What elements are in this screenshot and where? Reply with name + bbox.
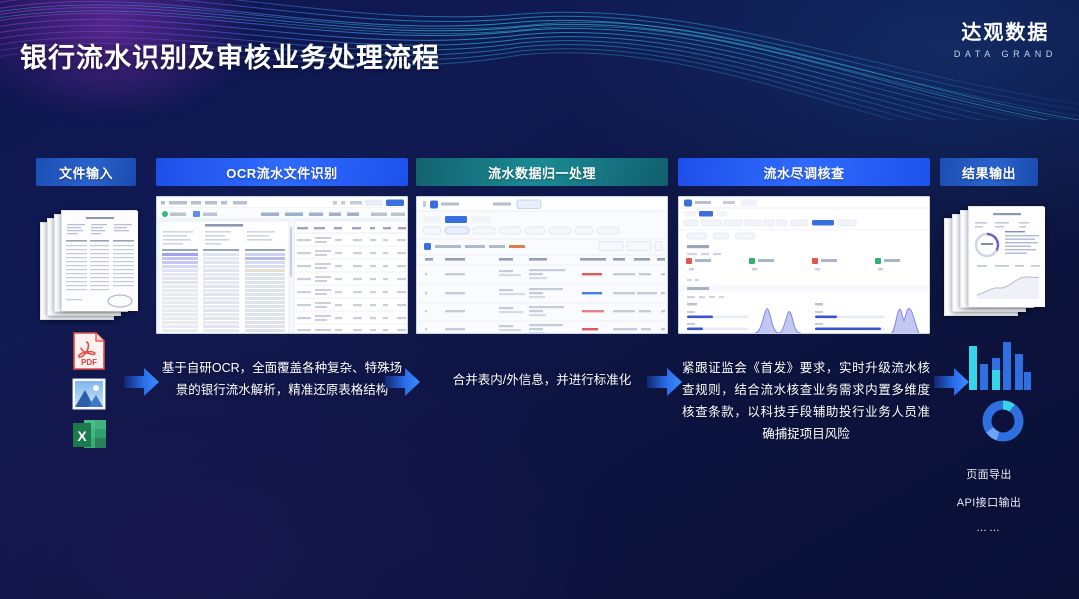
input-document-stack [40, 208, 140, 328]
arrow-input-to-ocr [122, 364, 162, 405]
output-label-api-export: API接口输出 [924, 494, 1054, 510]
step-result-output: 结果输出 [940, 158, 1038, 186]
analytics-dashboard-screenshot[interactable] [678, 196, 930, 334]
step-ocr-recognition: OCR流水文件识别 [156, 158, 408, 186]
step-description-normalization: 合并表内/外信息，并进行标准化 [420, 370, 664, 392]
step-header-file-input[interactable]: 文件输入 [36, 158, 136, 186]
page-title: 银行流水识别及审核业务处理流程 [20, 36, 440, 75]
step-data-normalization: 流水数据归一处理 [416, 158, 668, 186]
arrow-normalization-to-check [645, 364, 685, 405]
pdf-file-icon: PDF [72, 332, 106, 375]
slide-canvas: 银行流水识别及审核业务处理流程 达观数据 DATA GRAND 文件输入 [0, 0, 1079, 599]
excel-file-icon: X [72, 418, 108, 457]
step-due-diligence: 流水尽调核查 [678, 158, 930, 186]
pdf-label: PDF [81, 358, 97, 367]
output-label-more: …… [924, 522, 1054, 534]
document-page-front [61, 210, 137, 310]
brand-logo: 达观数据 DATA GRAND [954, 22, 1057, 59]
step-description-due-diligence: 紧跟证监会《首发》要求，实时升级流水核查规则，结合流水核查业务需求内置多维度核查… [682, 358, 930, 446]
step-header-normalization[interactable]: 流水数据归一处理 [416, 158, 668, 186]
output-report-stack [944, 206, 1054, 326]
report-page-content [969, 207, 1045, 307]
step-description-ocr: 基于自研OCR，全面覆盖各种复杂、特殊场景的银行流水解析，精准还原表格结构 [160, 358, 404, 402]
step-header-result-output[interactable]: 结果输出 [940, 158, 1038, 186]
image-file-icon [72, 378, 106, 415]
report-page-front [968, 206, 1044, 306]
bar-chart-icon [965, 338, 1035, 399]
donut-chart-icon [980, 398, 1026, 449]
step-file-input: 文件输入 [36, 158, 136, 186]
step-header-ocr[interactable]: OCR流水文件识别 [156, 158, 408, 186]
step-header-due-diligence[interactable]: 流水尽调核查 [678, 158, 930, 186]
statement-page-content [62, 211, 138, 311]
brand-name-en: DATA GRAND [954, 49, 1057, 59]
output-label-page-export: 页面导出 [924, 466, 1054, 482]
ocr-compare-screenshot[interactable] [156, 196, 408, 334]
arrow-ocr-to-normalization [383, 364, 423, 405]
brand-name-cn: 达观数据 [954, 22, 1057, 44]
data-table-screenshot[interactable] [416, 196, 668, 334]
excel-label: X [77, 428, 87, 444]
